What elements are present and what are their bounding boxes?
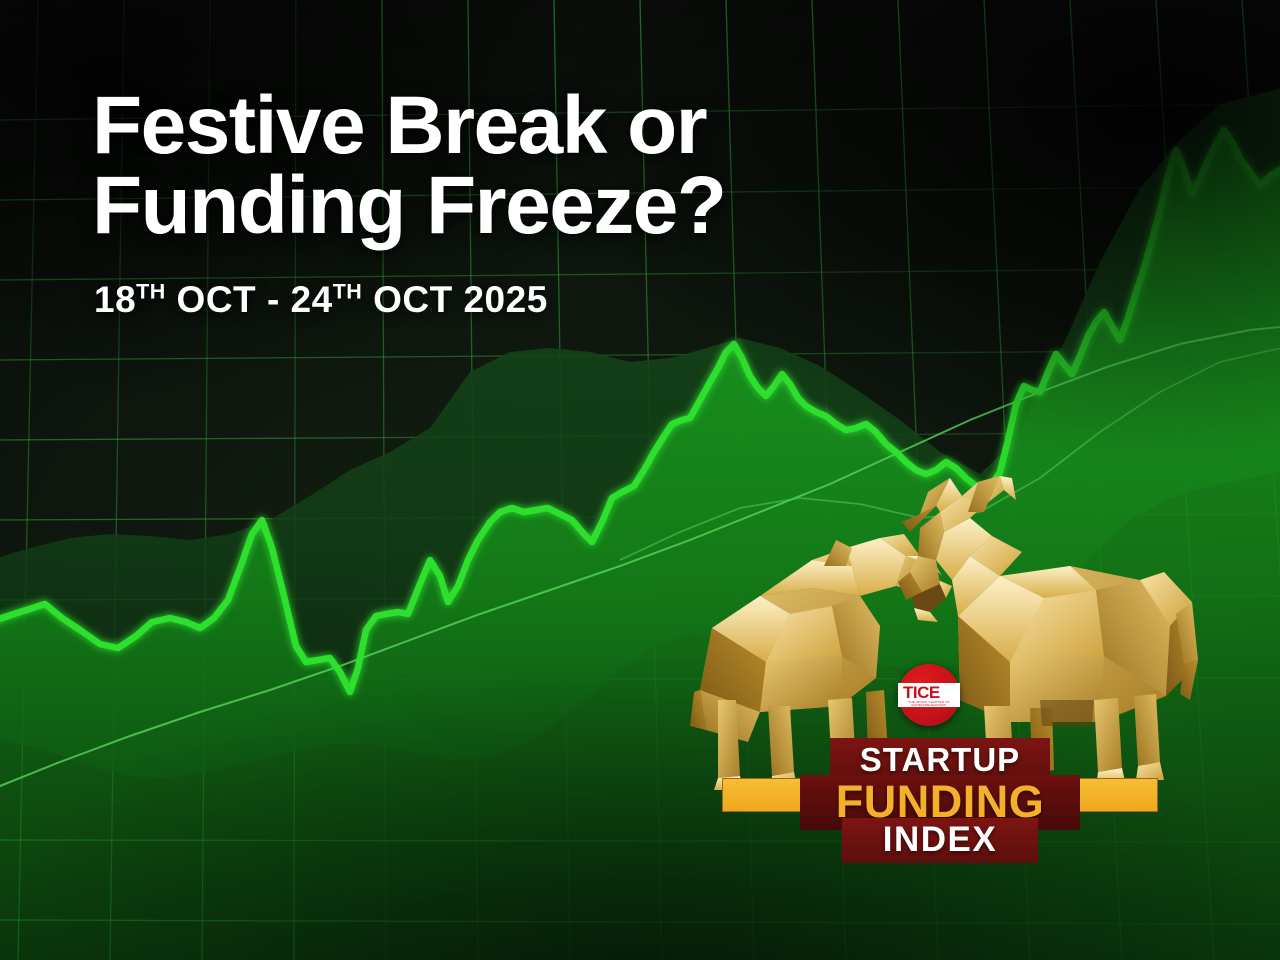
logo-bar-right	[1078, 778, 1158, 812]
tice-badge[interactable]: TICE THE INDIAN CHAPTER OF ENTREPRENEURS…	[898, 664, 960, 726]
tice-plate: TICE THE INDIAN CHAPTER OF ENTREPRENEURS…	[898, 683, 960, 707]
startup-funding-index-logo: TICE THE INDIAN CHAPTER OF ENTREPRENEURS…	[700, 660, 1180, 880]
logo-word-index: INDEX	[842, 818, 1038, 863]
tice-tagline: THE INDIAN CHAPTER OF ENTREPRENEURSHIP	[903, 701, 955, 706]
poster-canvas: Festive Break or Funding Freeze? 18TH OC…	[0, 0, 1280, 960]
tice-wordmark: TICE	[903, 684, 955, 701]
logo-bar-left	[722, 778, 802, 812]
